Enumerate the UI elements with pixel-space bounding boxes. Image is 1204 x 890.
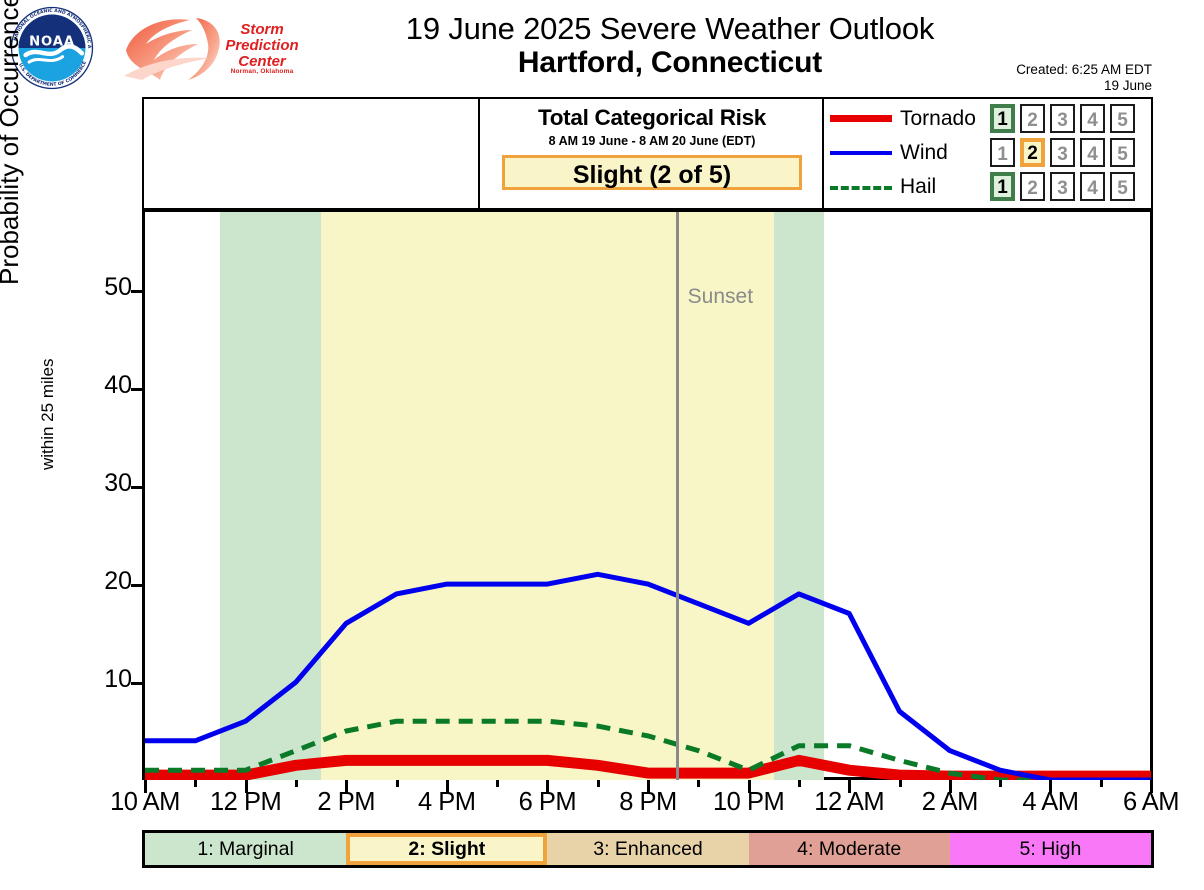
severe-weather-outlook-page: NOAA NATIONAL OCEANIC AND ATMOSPHERIC AD… [0,0,1204,890]
x-tick-label-9: 4 AM [1022,788,1078,817]
wind-box-4[interactable]: 4 [1080,138,1105,167]
spc-line-4: Norman, Oklahoma [222,69,302,76]
y-tick-50: 50 [80,273,132,302]
x-tickmark-13 [295,780,298,787]
sunset-line [676,212,679,780]
category-slight[interactable]: 2: Slight [346,833,547,865]
wind-box-3[interactable]: 3 [1050,138,1075,167]
x-tick-label-0: 10 AM [110,788,180,817]
x-tickmark-21 [697,780,700,787]
page-title: 19 June 2025 Severe Weather Outlook Hart… [300,12,1040,80]
tornado-box-4[interactable]: 4 [1080,104,1105,133]
y-tick-40: 40 [80,371,132,400]
y-tickmark-50 [131,290,143,293]
spc-logo-text: Storm Prediction Center Norman, Oklahoma [222,22,302,76]
y-tickmark-30 [131,486,143,489]
x-tickmark-27 [999,780,1002,787]
spc-line-2: Prediction [222,38,302,54]
wind-line-swatch-icon [830,151,892,155]
x-tick-label-5: 8 PM [619,788,677,817]
y-tick-30: 30 [80,469,132,498]
tornado-risk-boxes: 1 2 3 4 5 [990,104,1135,133]
y-tickmark-10 [131,682,143,685]
x-tickmark-15 [396,780,399,787]
hail-box-5[interactable]: 5 [1110,172,1135,201]
hail-line-swatch-icon [830,186,892,190]
wind-box-1[interactable]: 1 [990,138,1015,167]
x-tickmark-29 [1100,780,1103,787]
category-marginal[interactable]: 1: Marginal [145,833,346,865]
created-line-1: Created: 6:25 AM EDT [952,62,1152,78]
x-tickmark-11 [194,780,197,787]
category-enhanced[interactable]: 3: Enhanced [547,833,748,865]
legend-label-tornado: Tornado [900,105,976,133]
wind-box-5[interactable]: 5 [1110,138,1135,167]
y-tickmark-20 [131,584,143,587]
title-line-2: Hartford, Connecticut [300,46,1040,80]
x-tick-label-10: 6 AM [1123,788,1179,817]
tornado-box-3[interactable]: 3 [1050,104,1075,133]
tornado-box-2[interactable]: 2 [1020,104,1045,133]
risk-level-badge: Slight (2 of 5) [502,155,802,190]
y-tickmark-40 [131,388,143,391]
title-line-1: 19 June 2025 Severe Weather Outlook [300,12,1040,46]
top-panel-row: Total Categorical Risk 8 AM 19 June - 8 … [142,97,1153,210]
probability-curves [145,212,1151,780]
x-axis-tick-labels: 10 AM12 PM2 PM4 PM6 PM8 PM10 PM12 AM2 AM… [0,788,1204,822]
spc-line-3: Center [222,54,302,70]
x-tick-label-8: 2 AM [922,788,978,817]
tornado-box-1[interactable]: 1 [990,104,1015,133]
blank-panel [144,99,480,208]
y-axis-tick-labels: 1020304050 [62,0,132,890]
x-tickmark-17 [496,780,499,787]
y-axis-title: Probability of Occurrence (%) [0,0,25,285]
y-axis-subtitle: within 25 miles [38,359,58,471]
x-tickmark-19 [597,780,600,787]
total-categorical-risk-panel: Total Categorical Risk 8 AM 19 June - 8 … [482,99,824,208]
hail-box-1[interactable]: 1 [990,172,1015,201]
x-tick-label-3: 4 PM [418,788,476,817]
x-tick-label-4: 6 PM [519,788,577,817]
chart-plot-area: Sunset [145,212,1151,780]
legend-row-hail: Hail 1 2 3 4 5 [826,171,1151,204]
sunset-label: Sunset [688,285,753,309]
hazard-legend: Tornado 1 2 3 4 5 Wind 1 2 3 4 5 [826,99,1151,208]
x-tickmark-25 [899,780,902,787]
category-high[interactable]: 5: High [950,833,1151,865]
tornado-box-5[interactable]: 5 [1110,104,1135,133]
tornado-line-swatch-icon [830,115,892,122]
risk-panel-subtitle: 8 AM 19 June - 8 AM 20 June (EDT) [482,134,822,148]
hail-box-4[interactable]: 4 [1080,172,1105,201]
x-tick-label-6: 10 PM [713,788,784,817]
spc-line-1: Storm [222,22,302,38]
legend-label-wind: Wind [900,139,948,167]
hail-box-2[interactable]: 2 [1020,172,1045,201]
page-header: NOAA NATIONAL OCEANIC AND ATMOSPHERIC AD… [0,0,1204,96]
risk-panel-title: Total Categorical Risk [482,105,822,131]
hail-risk-boxes: 1 2 3 4 5 [990,172,1135,201]
x-tick-label-2: 2 PM [317,788,375,817]
y-tick-20: 20 [80,567,132,596]
legend-row-tornado: Tornado 1 2 3 4 5 [826,103,1151,136]
wind-risk-boxes: 1 2 3 4 5 [990,138,1135,167]
category-moderate[interactable]: 4: Moderate [749,833,950,865]
hail-box-3[interactable]: 3 [1050,172,1075,201]
created-timestamp: Created: 6:25 AM EDT 19 June [952,62,1152,94]
legend-row-wind: Wind 1 2 3 4 5 [826,137,1151,170]
x-tickmark-23 [798,780,801,787]
wind-box-2[interactable]: 2 [1020,138,1045,167]
risk-category-legend-bar: 1: Marginal 2: Slight 3: Enhanced 4: Mod… [142,830,1154,868]
x-tick-label-1: 12 PM [210,788,281,817]
legend-label-hail: Hail [900,173,936,201]
created-line-2: 19 June [952,78,1152,94]
curve-wind [145,574,1151,780]
y-tick-10: 10 [80,665,132,694]
x-tick-label-7: 12 AM [814,788,884,817]
